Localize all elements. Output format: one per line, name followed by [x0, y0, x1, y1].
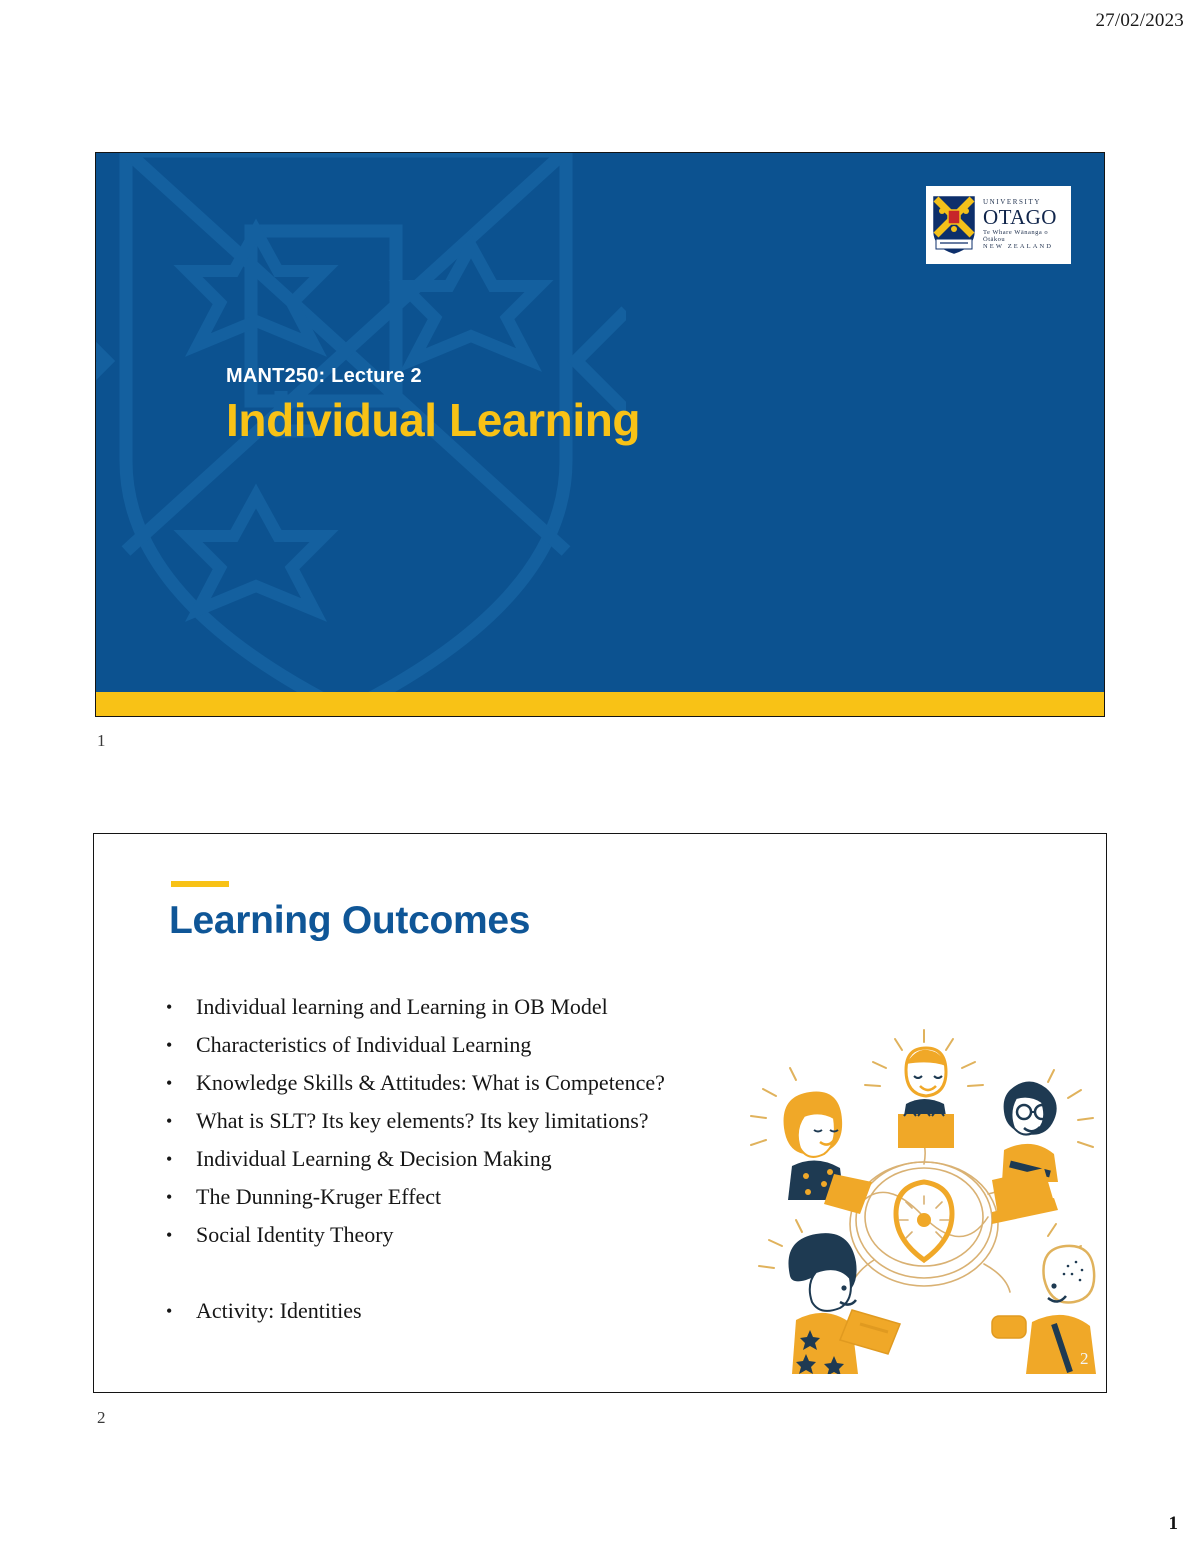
slide-title: Individual Learning: [226, 396, 640, 444]
page-number: 1: [1169, 1513, 1179, 1535]
list-item-label: Individual Learning & Decision Making: [196, 1144, 766, 1174]
list-item: • Individual Learning & Decision Making: [166, 1144, 766, 1182]
lecture-eyebrow: MANT250: Lecture 2: [226, 365, 640, 388]
slide-1-title[interactable]: UNIVERSITY OTAGO Te Whare Wānanga o Ōtāk…: [95, 152, 1105, 717]
learning-outcomes-list: • Individual learning and Learning in OB…: [166, 992, 766, 1334]
list-item-label: Social Identity Theory: [196, 1220, 766, 1250]
list-item-label: The Dunning-Kruger Effect: [196, 1182, 766, 1212]
gold-footer-bar: [96, 692, 1104, 716]
slide-2-learning-outcomes[interactable]: Learning Outcomes • Individual learning …: [93, 833, 1107, 1393]
bullet-dot-icon: •: [166, 1068, 196, 1098]
page-date: 27/02/2023: [1095, 10, 1184, 32]
bullet-dot-icon: •: [166, 1182, 196, 1212]
bullet-dot-icon: •: [166, 1144, 196, 1174]
list-item: • What is SLT? Its key elements? Its key…: [166, 1106, 766, 1144]
bullet-dot-icon: •: [166, 992, 196, 1022]
list-item: • Characteristics of Individual Learning: [166, 1030, 766, 1068]
heading-accent-bar: [171, 881, 229, 887]
list-item: • Knowledge Skills & Attitudes: What is …: [166, 1068, 766, 1106]
bullet-dot-icon: •: [166, 1220, 196, 1250]
learners-network-illustration: 2: [748, 1024, 1100, 1374]
list-item-label: Activity: Identities: [196, 1296, 766, 1326]
bullet-dot-icon: •: [166, 1296, 196, 1326]
otago-shield-icon: [932, 195, 976, 255]
university-of-otago-logo: UNIVERSITY OTAGO Te Whare Wānanga o Ōtāk…: [926, 186, 1071, 264]
list-item-label: Characteristics of Individual Learning: [196, 1030, 766, 1060]
otago-wordmark: UNIVERSITY OTAGO Te Whare Wānanga o Ōtāk…: [983, 199, 1065, 251]
bullet-dot-icon: •: [166, 1030, 196, 1060]
bullet-dot-icon: •: [166, 1106, 196, 1136]
list-item-label: Individual learning and Learning in OB M…: [196, 992, 766, 1022]
list-item: • The Dunning-Kruger Effect: [166, 1182, 766, 1220]
slide-2-number: 2: [97, 1408, 106, 1428]
otago-wordmark-country: NEW ZEALAND: [983, 244, 1065, 251]
slide-2-heading: Learning Outcomes: [169, 899, 530, 943]
otago-wordmark-maori: Te Whare Wānanga o Ōtākou: [983, 230, 1065, 243]
list-item: • Social Identity Theory: [166, 1220, 766, 1258]
title-block: MANT250: Lecture 2 Individual Learning: [226, 365, 640, 444]
illustration-corner-mark: 2: [1080, 1349, 1089, 1368]
list-item: • Individual learning and Learning in OB…: [166, 992, 766, 1030]
list-spacer: [166, 1258, 766, 1296]
slide-1-number: 1: [97, 731, 106, 751]
list-item: • Activity: Identities: [166, 1296, 766, 1334]
otago-wordmark-otago: OTAGO: [983, 207, 1065, 228]
list-item-label: Knowledge Skills & Attitudes: What is Co…: [196, 1068, 766, 1098]
list-item-label: What is SLT? Its key elements? Its key l…: [196, 1106, 766, 1136]
